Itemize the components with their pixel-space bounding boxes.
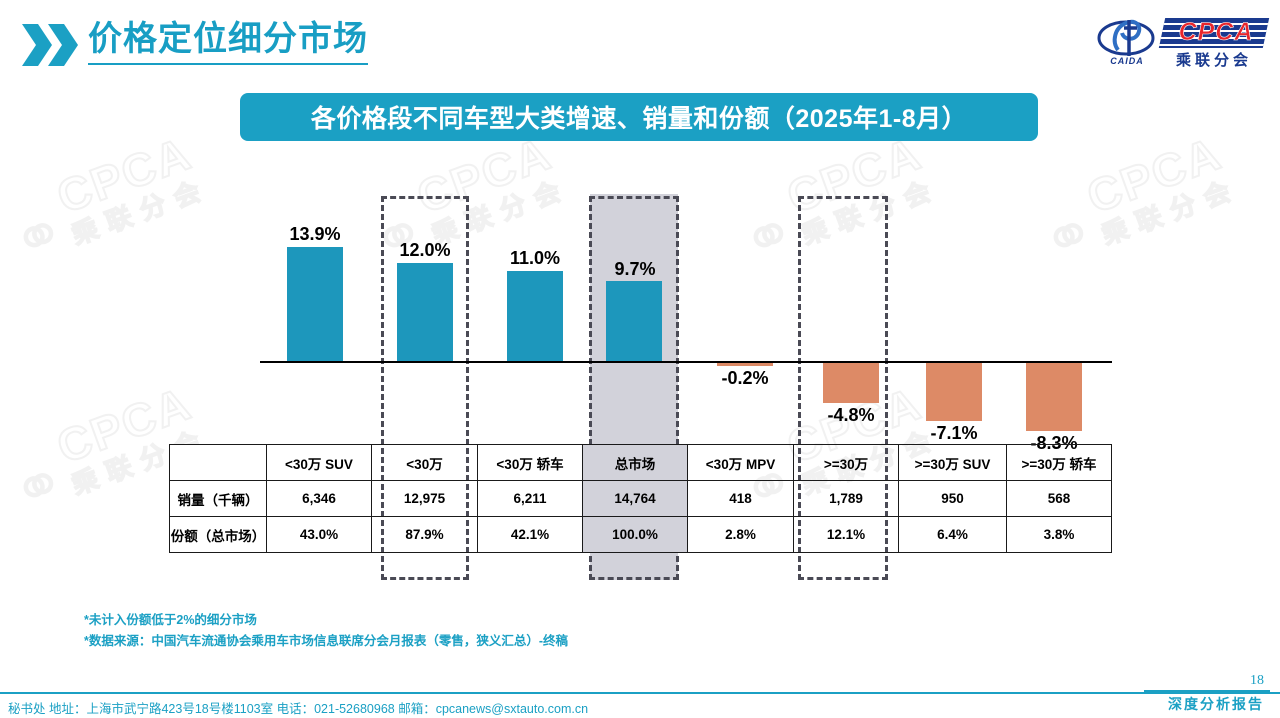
table-cell: 950	[899, 481, 1007, 517]
cpca-wordmark: CPCA 乘联分会	[1162, 18, 1266, 66]
bar-over-300k-suv	[926, 363, 982, 421]
table-corner-cell	[170, 445, 267, 481]
page-number: 18	[1250, 673, 1264, 689]
footnote-line: *未计入份额低于2%的细分市场	[84, 610, 568, 631]
footnotes: *未计入份额低于2%的细分市场 *数据来源：中国汽车流通协会乘用车市场信息联席分…	[84, 610, 568, 651]
caida-text: CAIDA	[1100, 56, 1154, 66]
table-cell: 12,975	[372, 481, 478, 517]
bar-value-label: 9.7%	[595, 259, 675, 280]
table-cell: 6,346	[267, 481, 372, 517]
table-cell: 3.8%	[1007, 517, 1112, 553]
table-row: 份额（总市场） 43.0% 87.9% 42.1% 100.0% 2.8% 12…	[170, 517, 1112, 553]
bar-over-300k-sedan	[1026, 363, 1082, 431]
bar-value-label: -0.2%	[705, 368, 785, 389]
bar-total-market	[606, 281, 662, 361]
data-table: <30万 SUV <30万 <30万 轿车 总市场 <30万 MPV >=30万…	[169, 444, 1111, 553]
bar-over-300k	[823, 363, 879, 403]
bar-under-300k-mpv	[717, 363, 773, 366]
table-cell: 42.1%	[478, 517, 583, 553]
table-header-row: <30万 SUV <30万 <30万 轿车 总市场 <30万 MPV >=30万…	[170, 445, 1112, 481]
bar-value-label: 13.9%	[275, 224, 355, 245]
table-cell: 100.0%	[583, 517, 688, 553]
bar-value-label: -4.8%	[811, 405, 891, 426]
table-col-header: 总市场	[583, 445, 688, 481]
caida-emblem-icon: CAIDA	[1096, 16, 1158, 68]
table-cell: 14,764	[583, 481, 688, 517]
table-col-header: >=30万 SUV	[899, 445, 1007, 481]
page-title: 价格定位细分市场	[88, 18, 368, 65]
table-row: 销量（千辆） 6,346 12,975 6,211 14,764 418 1,7…	[170, 481, 1112, 517]
table-row-label: 销量（千辆）	[170, 481, 267, 517]
table-col-header: <30万 MPV	[688, 445, 794, 481]
table-cell: 418	[688, 481, 794, 517]
table-cell: 87.9%	[372, 517, 478, 553]
table-cell: 1,789	[794, 481, 899, 517]
bar-value-label: 11.0%	[495, 248, 575, 269]
table-cell: 6.4%	[899, 517, 1007, 553]
table-col-header: >=30万	[794, 445, 899, 481]
bar-value-label: 12.0%	[385, 240, 465, 261]
table-cell: 2.8%	[688, 517, 794, 553]
footer-report-label: 深度分析报告	[1168, 694, 1264, 714]
chart-title-banner: 各价格段不同车型大类增速、销量和份额（2025年1-8月）	[240, 93, 1038, 141]
bar-under-300k	[397, 263, 453, 361]
table-col-header: >=30万 轿车	[1007, 445, 1112, 481]
table-cell: 6,211	[478, 481, 583, 517]
zero-axis-line	[260, 361, 1112, 363]
bar-under-300k-suv	[287, 247, 343, 361]
table-cell: 568	[1007, 481, 1112, 517]
table-col-header: <30万	[372, 445, 478, 481]
double-chevron-right-icon	[22, 24, 84, 66]
table-col-header: <30万 轿车	[478, 445, 583, 481]
table-cell: 43.0%	[267, 517, 372, 553]
bar-value-label: -7.1%	[914, 423, 994, 444]
slide-canvas: ⚭ CPCA 乘联分会 ⚭ CPCA 乘联分会 ⚭ CPCA 乘联分会 ⚭ CP…	[0, 0, 1280, 718]
footnote-line: *数据来源：中国汽车流通协会乘用车市场信息联席分会月报表（零售，狭义汇总）-终稿	[84, 631, 568, 652]
footer-divider	[0, 692, 1280, 694]
cpca-text: CPCA	[1164, 17, 1268, 47]
table-cell: 12.1%	[794, 517, 899, 553]
footer-contact: 秘书处 地址：上海市武宁路423号18号楼1103室 电话：021-526809…	[8, 698, 588, 717]
table-row-label: 份额（总市场）	[170, 517, 267, 553]
table-col-header: <30万 SUV	[267, 445, 372, 481]
bar-under-300k-sedan	[507, 271, 563, 361]
cpca-text-cn: 乘联分会	[1162, 49, 1266, 70]
cpca-logo: CAIDA CPCA 乘联分会	[1096, 14, 1266, 70]
